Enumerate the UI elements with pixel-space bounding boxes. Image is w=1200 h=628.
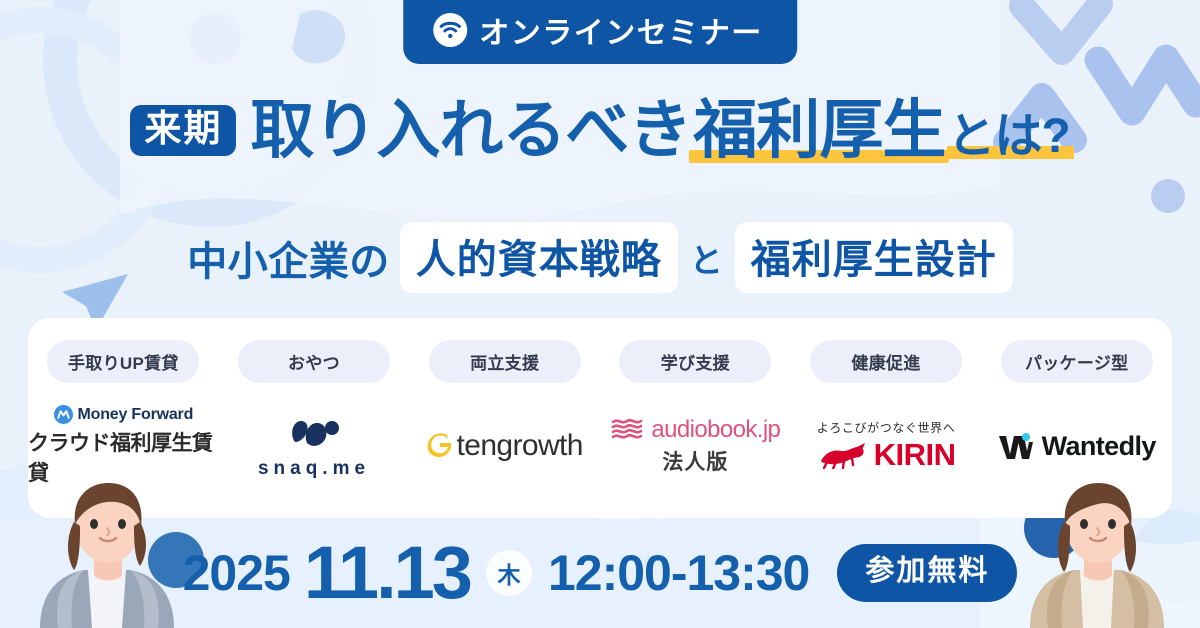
sponsor-chip-6: パッケージ型 — [1001, 340, 1153, 383]
event-date: 11.13 — [304, 536, 470, 610]
tengrowth-g-icon — [427, 431, 453, 461]
sponsor-column-3: 両立支援 tengrowth — [409, 318, 600, 483]
sponsor-card: 手取りUP賃貸 Money Forward クラウド福利厚生賃貸 おやつ sna… — [28, 318, 1172, 518]
next-term-tag: 来期 — [130, 105, 236, 156]
sponsor-logo-3: tengrowth — [427, 409, 583, 483]
headline-text: 取り入れるべき福利厚生とは? — [250, 98, 1069, 162]
headline-part1: 取り入れるべき — [250, 98, 691, 162]
sponsor-chip-1: 手取りUP賃貸 — [47, 340, 199, 383]
sponsor-chip-5: 健康促進 — [810, 340, 962, 383]
subheading: 中小企業の 人的資本戦略 と 福利厚生設計 — [0, 222, 1200, 293]
audiobook-logo: audiobook.jp — [610, 416, 780, 444]
sponsor-column-4: 学び支援 audiobook.jp 法人版 — [600, 318, 791, 483]
kirin-logo: KIRIN — [817, 437, 956, 473]
subheading-lead: 中小企業の — [187, 229, 390, 287]
sponsor-chip-4: 学び支援 — [619, 340, 771, 383]
kirin-beast-icon — [817, 441, 869, 469]
sponsor-column-2: おやつ snaq.me — [219, 318, 410, 483]
sponsor-logo-5: よろこびがつなぐ世界へ KIRIN — [817, 409, 956, 483]
wifi-icon-glyph — [439, 20, 461, 40]
sponsor-logo-6: Wantedly — [998, 409, 1156, 483]
kirin-name: KIRIN — [874, 437, 956, 473]
sponsor-logo-2: snaq.me — [258, 409, 370, 483]
event-datetime-bar: 2025 11.13 木 12:00-13:30 参加無料 — [0, 518, 1200, 628]
subheading-pill-1: 人的資本戦略 — [400, 222, 678, 293]
snaqme-squirrel-icon — [285, 412, 343, 452]
sponsor-chip-2: おやつ — [238, 340, 390, 383]
headline: 来期 取り入れるべき福利厚生とは? — [0, 98, 1200, 162]
kirin-tagline: よろこびがつなぐ世界へ — [817, 419, 956, 436]
event-time: 12:00-13:30 — [548, 544, 809, 602]
money-forward-icon — [54, 405, 73, 424]
money-forward-logo: Money Forward — [54, 405, 194, 424]
subheading-pill-2: 福利厚生設計 — [735, 222, 1013, 293]
audiobook-name: audiobook.jp — [651, 416, 780, 444]
free-entry-button[interactable]: 参加無料 — [837, 544, 1017, 602]
audiobook-wave-icon — [610, 417, 644, 443]
sponsor-column-1: 手取りUP賃貸 Money Forward クラウド福利厚生賃貸 — [28, 318, 219, 483]
audiobook-edition: 法人版 — [662, 446, 728, 476]
snaqme-name: snaq.me — [258, 458, 370, 480]
sponsor-logo-1: Money Forward クラウド福利厚生賃貸 — [28, 409, 219, 483]
sponsor-column-5: 健康促進 よろこびがつなぐ世界へ KIRIN — [791, 318, 982, 483]
headline-tail: とは? — [947, 113, 1069, 161]
subheading-conjunction: と — [690, 234, 723, 282]
sponsor-logo-4: audiobook.jp 法人版 — [610, 409, 780, 483]
wantedly-w-icon — [998, 432, 1034, 460]
tengrowth-logo: tengrowth — [427, 429, 583, 463]
event-weekday: 木 — [486, 550, 532, 596]
wantedly-logo: Wantedly — [998, 431, 1156, 462]
sponsor-column-6: パッケージ型 Wantedly — [981, 318, 1172, 483]
tengrowth-name: tengrowth — [457, 429, 583, 463]
headline-highlight: 福利厚生 — [691, 98, 947, 162]
online-seminar-badge: オンラインセミナー — [403, 0, 797, 64]
online-seminar-label: オンラインセミナー — [479, 8, 763, 52]
sponsor-chip-3: 両立支援 — [429, 340, 581, 383]
wifi-icon — [433, 13, 467, 47]
wantedly-name: Wantedly — [1042, 431, 1156, 462]
event-year: 2025 — [183, 544, 290, 602]
money-forward-name: Money Forward — [78, 406, 194, 424]
